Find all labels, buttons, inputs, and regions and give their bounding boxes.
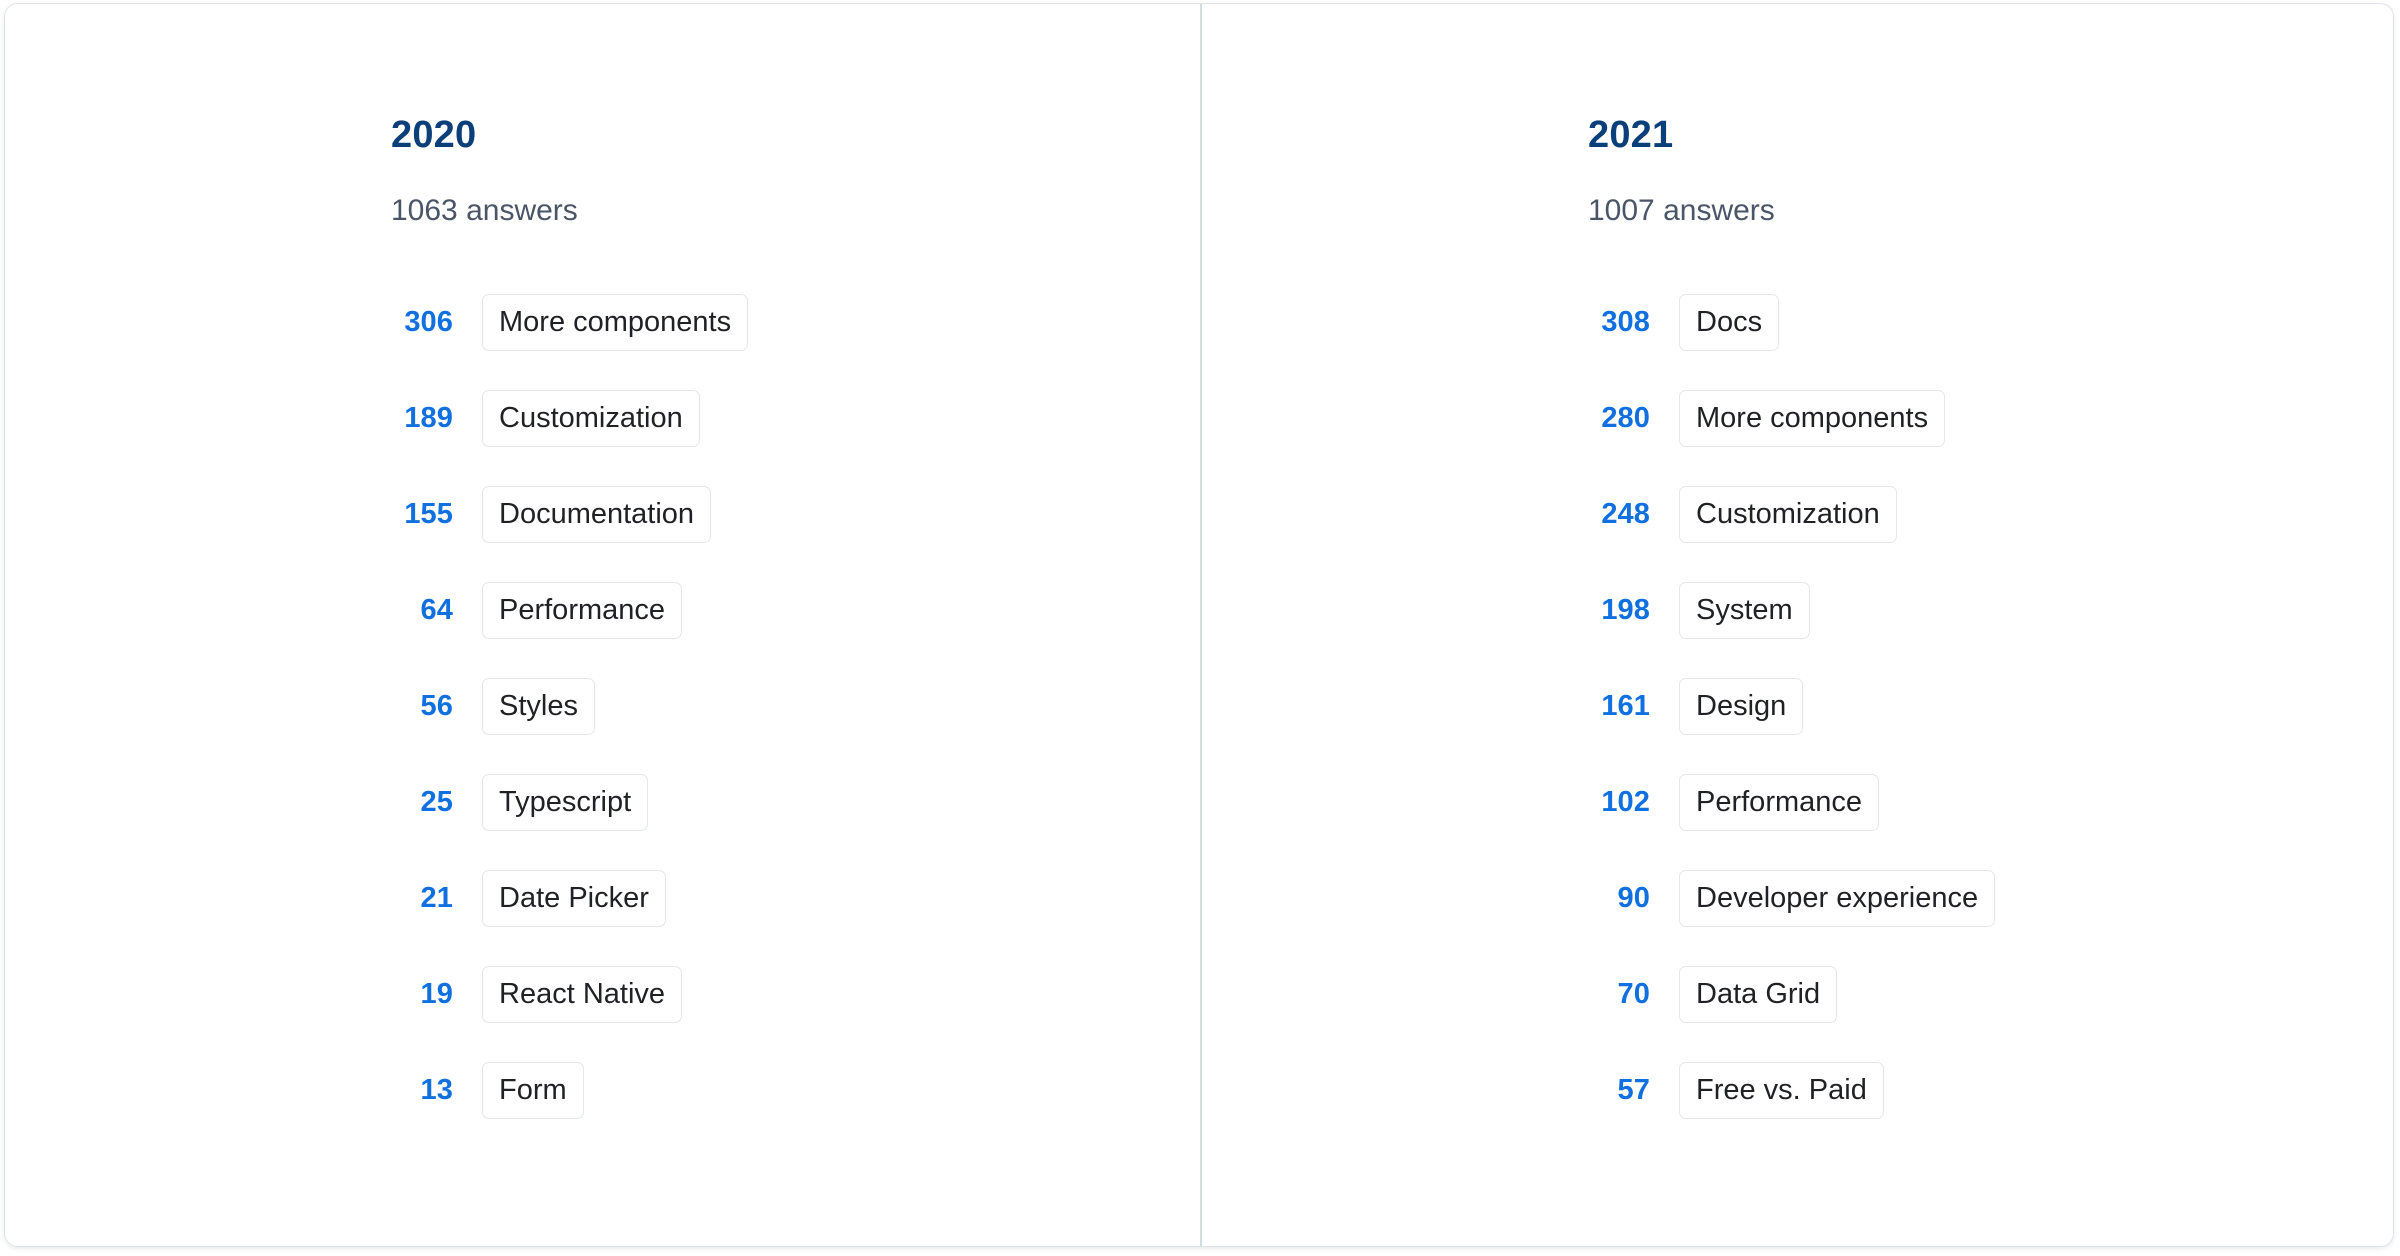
- list-item: 64 Performance: [391, 562, 1200, 658]
- row-label-chip[interactable]: Typescript: [482, 774, 648, 831]
- panel-2021-answers-count: 1007 answers: [1588, 196, 1775, 226]
- list-item: 57 Free vs. Paid: [1588, 1042, 2393, 1138]
- row-label-chip[interactable]: React Native: [482, 966, 682, 1023]
- list-item: 189 Customization: [391, 370, 1200, 466]
- panel-2021-year-title: 2021: [1588, 116, 1673, 154]
- row-label-chip[interactable]: More components: [1679, 390, 1945, 447]
- panel-2020: 2020 1063 answers 306 More components 18…: [5, 4, 1200, 1246]
- row-label-chip[interactable]: Performance: [482, 582, 682, 639]
- panel-2021-content: 2021 1007 answers 308 Docs 280 More comp…: [1588, 4, 2393, 1246]
- list-item: 56 Styles: [391, 658, 1200, 754]
- row-label-chip[interactable]: Styles: [482, 678, 595, 735]
- row-count: 308: [1588, 308, 1650, 337]
- panel-2020-row-list: 306 More components 189 Customization 15…: [391, 274, 1200, 1138]
- list-item: 21 Date Picker: [391, 850, 1200, 946]
- comparison-card: 2020 1063 answers 306 More components 18…: [4, 3, 2394, 1247]
- row-label-chip[interactable]: Docs: [1679, 294, 1779, 351]
- list-item: 306 More components: [391, 274, 1200, 370]
- list-item: 161 Design: [1588, 658, 2393, 754]
- row-count: 25: [391, 788, 453, 817]
- row-count: 248: [1588, 500, 1650, 529]
- row-label-chip[interactable]: Customization: [1679, 486, 1897, 543]
- list-item: 25 Typescript: [391, 754, 1200, 850]
- list-item: 248 Customization: [1588, 466, 2393, 562]
- panel-2020-answers-count: 1063 answers: [391, 196, 578, 226]
- list-item: 70 Data Grid: [1588, 946, 2393, 1042]
- row-label-chip[interactable]: Customization: [482, 390, 700, 447]
- list-item: 155 Documentation: [391, 466, 1200, 562]
- row-label-chip[interactable]: More components: [482, 294, 748, 351]
- row-label-chip[interactable]: Performance: [1679, 774, 1879, 831]
- panel-2020-content: 2020 1063 answers 306 More components 18…: [391, 4, 1200, 1246]
- row-count: 280: [1588, 404, 1650, 433]
- row-label-chip[interactable]: Date Picker: [482, 870, 666, 927]
- row-label-chip[interactable]: Data Grid: [1679, 966, 1837, 1023]
- row-label-chip[interactable]: System: [1679, 582, 1810, 639]
- row-count: 19: [391, 980, 453, 1009]
- panel-2021-row-list: 308 Docs 280 More components 248 Customi…: [1588, 274, 2393, 1138]
- panel-2021: 2021 1007 answers 308 Docs 280 More comp…: [1202, 4, 2393, 1246]
- row-label-chip[interactable]: Free vs. Paid: [1679, 1062, 1884, 1119]
- page-root: 2020 1063 answers 306 More components 18…: [0, 0, 2400, 1256]
- row-count: 90: [1588, 884, 1650, 913]
- row-label-chip[interactable]: Design: [1679, 678, 1803, 735]
- list-item: 198 System: [1588, 562, 2393, 658]
- row-label-chip[interactable]: Documentation: [482, 486, 711, 543]
- row-label-chip[interactable]: Developer experience: [1679, 870, 1995, 927]
- row-count: 57: [1588, 1076, 1650, 1105]
- row-count: 161: [1588, 692, 1650, 721]
- row-label-chip[interactable]: Form: [482, 1062, 584, 1119]
- row-count: 198: [1588, 596, 1650, 625]
- panel-2020-year-title: 2020: [391, 116, 476, 154]
- row-count: 70: [1588, 980, 1650, 1009]
- list-item: 13 Form: [391, 1042, 1200, 1138]
- row-count: 64: [391, 596, 453, 625]
- list-item: 308 Docs: [1588, 274, 2393, 370]
- row-count: 306: [391, 308, 453, 337]
- list-item: 90 Developer experience: [1588, 850, 2393, 946]
- row-count: 13: [391, 1076, 453, 1105]
- row-count: 189: [391, 404, 453, 433]
- row-count: 21: [391, 884, 453, 913]
- row-count: 102: [1588, 788, 1650, 817]
- row-count: 155: [391, 500, 453, 529]
- list-item: 102 Performance: [1588, 754, 2393, 850]
- list-item: 19 React Native: [391, 946, 1200, 1042]
- row-count: 56: [391, 692, 453, 721]
- list-item: 280 More components: [1588, 370, 2393, 466]
